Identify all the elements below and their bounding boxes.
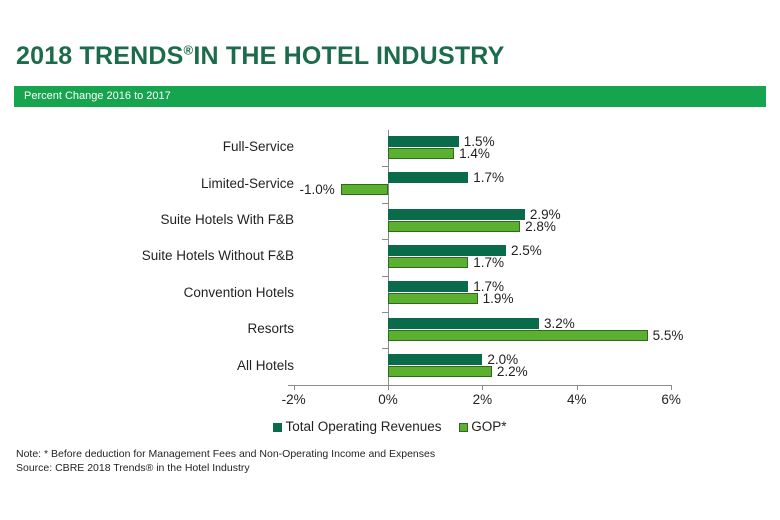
legend-swatch-icon-series2 [459,423,468,432]
bar-gop [388,366,492,377]
x-axis-tick [671,385,672,390]
footnote-note: Note: * Before deduction for Management … [16,447,435,461]
bar-value-label: 1.4% [459,147,490,160]
x-axis-tick-label: 0% [358,392,418,407]
legend-item-total-operating-revenues: Total Operating Revenues [273,419,441,434]
x-axis-tick-label: 4% [547,392,607,407]
bar-value-label: 1.9% [483,292,514,305]
bar-gop [341,184,388,195]
legend-item-gop: GOP* [459,419,506,434]
x-axis-tick-label: 6% [641,392,701,407]
bar-tor [388,281,468,292]
y-axis-tick [382,348,388,349]
bar-tor [388,172,468,183]
legend-label-series1: Total Operating Revenues [285,419,441,434]
y-axis-tick [382,239,388,240]
x-axis-tick-label: 2% [452,392,512,407]
bar-value-label: 3.2% [544,317,575,330]
footnote-source: Source: CBRE 2018 Trends® in the Hotel I… [16,461,435,475]
x-axis-tick-label: -2% [264,392,324,407]
category-label: Suite Hotels With F&B [160,213,294,227]
bar-gop [388,293,478,304]
bar-value-label: 1.7% [473,171,504,184]
y-axis-tick [382,276,388,277]
x-axis-line [288,385,671,386]
legend-swatch-icon-series1 [273,423,282,432]
bar-value-label: 2.2% [497,365,528,378]
category-label: Resorts [247,322,294,336]
bar-value-label: 2.5% [511,244,542,257]
footnotes: Note: * Before deduction for Management … [16,447,435,475]
bar-tor [388,136,459,147]
category-label: Suite Hotels Without F&B [142,249,294,263]
bar-value-label: 5.5% [653,329,684,342]
category-label: Convention Hotels [184,286,294,300]
category-label: All Hotels [237,359,294,373]
x-axis-tick [482,385,483,390]
y-axis-tick [382,312,388,313]
category-label: Limited-Service [201,177,294,191]
bar-tor [388,318,539,329]
x-axis-tick [577,385,578,390]
bar-gop [388,148,454,159]
y-axis-tick [382,166,388,167]
category-label: Full-Service [223,140,294,154]
bar-tor [388,354,482,365]
bar-gop [388,330,648,341]
bar-value-label: 2.8% [525,220,556,233]
chart-legend: Total Operating Revenues GOP* [0,419,780,434]
bar-value-label: 1.7% [473,256,504,269]
y-axis-tick [382,203,388,204]
bar-gop [388,221,520,232]
x-axis-tick [294,385,295,390]
legend-label-series2: GOP* [471,419,506,434]
chart-plot-area: -2%0%2%4%6%Full-Service1.5%1.4%Limited-S… [0,0,780,520]
bar-tor [388,209,525,220]
bar-value-label: -1.0% [289,183,335,196]
bar-gop [388,257,468,268]
x-axis-tick [388,385,389,390]
